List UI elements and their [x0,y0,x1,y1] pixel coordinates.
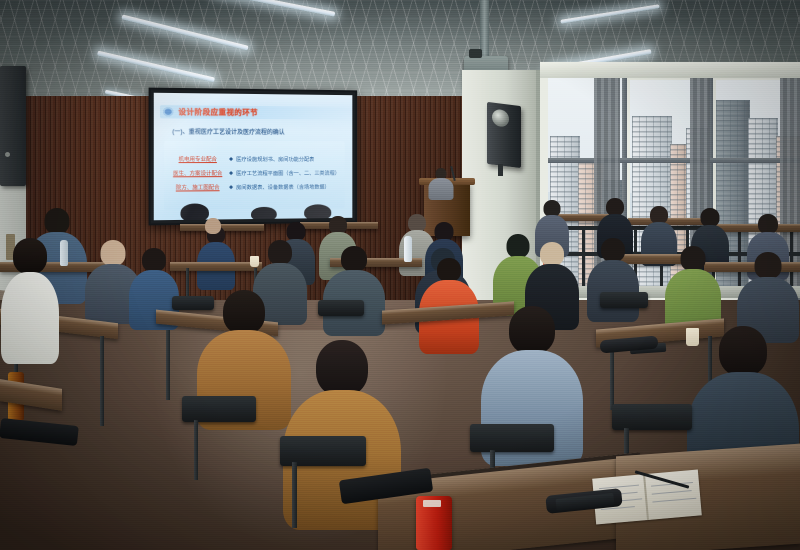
attendee-head [681,246,706,271]
attendee-head [45,208,70,234]
chair-back [612,404,692,430]
attendee-head [719,326,767,376]
water-bottle [404,236,412,262]
attendee [322,246,386,332]
slide-row-text: 医疗设施规划书、房间功能分配表 [236,155,314,163]
speaker-left-icon [0,66,26,186]
attendee [200,218,226,252]
attendee-head [101,240,126,266]
presentation-slide: 设计阶段应重视的环节 (一)、重视医疗工艺设计及医疗流程的确认 机电用专业配合 … [154,93,353,221]
slide-bullet-icon [163,107,173,116]
slide-row-text: 房间数据表、设备数据表（含场地数据） [236,183,330,192]
slide-rows: 机电用专业配合 医疗设施规划书、房间功能分配表 医生、方案设计配合 医疗工艺流程… [166,152,345,195]
attendee-head [341,246,367,272]
attendee-torso [587,260,639,322]
desk-leg [166,330,170,400]
attendee-head [437,258,461,282]
red-thermos [416,496,452,550]
slide-row: 机电用专业配合 医疗设施规划书、房间功能分配表 [166,152,345,166]
chair-back [182,396,256,422]
chair-leg [292,462,297,528]
silhouette-head [251,207,277,220]
presenter [426,168,456,198]
attendee-head [758,214,778,234]
chair-leg [194,420,198,480]
attendee-torso [1,272,59,364]
slide-title: 设计阶段应重视的环节 [178,106,258,118]
attendee-head [205,218,221,234]
diamond-bullet-icon [229,157,233,161]
desk [170,262,262,271]
chair-back [318,300,364,316]
chair-back [470,424,554,452]
attendee-head [13,238,47,274]
attendee-foreground [0,238,60,358]
attendee-head [755,252,782,279]
attendee-head [509,306,555,354]
water-bottle [60,240,68,266]
attendee [664,246,722,330]
notebook-spine [643,474,649,520]
slide-row-label: 机电用专业配合 [166,155,229,163]
speaker-bracket [498,164,503,176]
diamond-bullet-icon [229,185,233,189]
slide-subtitle: (一)、重视医疗工艺设计及医疗流程的确认 [172,127,284,137]
attendee-head [601,238,625,262]
slide-row: 医生、方案设计配合 医疗工艺流程平面图（含一、二、三类流程） [166,166,345,181]
presenter-torso [429,178,454,200]
classroom-photograph: 设计阶段应重视的环节 (一)、重视医疗工艺设计及医疗流程的确认 机电用专业配合 … [0,0,800,550]
slide-row: 院方、施工图配合 房间数据表、设备数据表（含场地数据） [166,180,345,195]
window-mullion [548,158,800,163]
slide-row-label: 医生、方案设计配合 [166,169,229,177]
slide-row-text: 医疗工艺流程平面图（含一、二、三类流程） [236,169,340,177]
desk-leg [100,336,104,426]
diamond-bullet-icon [229,171,233,175]
attendee-head [316,340,368,396]
attendee-head [540,242,564,266]
attendee-head [142,248,166,272]
slide-row-label: 院方、施工图配合 [166,183,229,191]
attendee-head [268,240,292,265]
projection-screen: 设计阶段应重视的环节 (一)、重视医疗工艺设计及医疗流程的确认 机电用专业配合 … [149,88,358,226]
attendee-head [223,290,265,334]
chair-back [600,292,648,308]
speaker-right-icon [487,102,521,168]
window-top-trim [540,62,800,78]
